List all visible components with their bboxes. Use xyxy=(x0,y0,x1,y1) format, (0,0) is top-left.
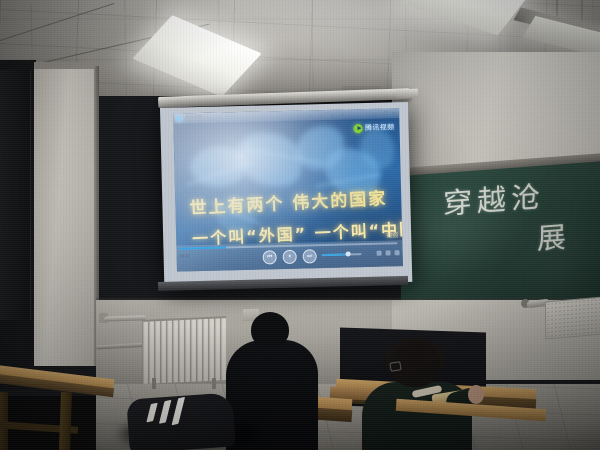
close-button[interactable]: ✕ xyxy=(392,110,395,115)
fullscreen-icon[interactable] xyxy=(395,250,400,255)
minimize-button[interactable]: — xyxy=(375,111,379,116)
player-app-icon xyxy=(176,115,182,121)
screen-roller-endcap xyxy=(396,89,418,99)
transport-controls[interactable]: ⏮ ⏸ ⏭ xyxy=(263,249,317,264)
video-player[interactable]: 腾讯视频 — ❐ ✕ 腾讯视频 世上有两个 伟大的国家 一个叫“外国” 一个叫“… xyxy=(173,108,403,271)
projection-screen: 腾讯视频 — ❐ ✕ 腾讯视频 世上有两个 伟大的国家 一个叫“外国” 一个叫“… xyxy=(160,102,412,288)
radiator-leg-1 xyxy=(152,378,156,389)
play-pause-button[interactable]: ⏸ xyxy=(283,250,297,264)
tray-clock[interactable] xyxy=(396,268,401,271)
blackboard: 穿越沧 展 xyxy=(401,161,600,318)
speaker-grille xyxy=(546,298,600,339)
subtitle-icon[interactable] xyxy=(386,250,391,255)
system-tray[interactable] xyxy=(380,268,401,271)
settings-icon[interactable] xyxy=(377,251,382,256)
volume-slider-fill xyxy=(321,253,346,256)
seek-bar-fill xyxy=(178,246,226,249)
tencent-video-watermark: 腾讯视频 xyxy=(354,122,395,133)
left-doorway xyxy=(0,70,31,320)
elapsed-time-label: 00:42 xyxy=(180,253,190,258)
next-button[interactable]: ⏭ xyxy=(303,249,317,263)
pendant-rod-2 xyxy=(581,0,583,22)
player-toolbar-icons[interactable] xyxy=(293,112,345,118)
tray-icon[interactable] xyxy=(380,269,385,272)
maximize-button[interactable]: ❐ xyxy=(384,110,388,115)
desk-left-leg xyxy=(59,392,72,450)
blackboard-chalk-line-2: 展 xyxy=(537,214,571,258)
volume-slider-knob[interactable] xyxy=(345,251,350,256)
eyeglasses xyxy=(389,361,401,372)
tray-icon[interactable] xyxy=(388,268,393,271)
radiator xyxy=(142,316,226,384)
wall-pillar xyxy=(34,66,98,366)
play-logo-icon xyxy=(354,124,363,133)
volume-slider[interactable] xyxy=(321,253,361,256)
player-right-icons[interactable] xyxy=(377,250,400,256)
classroom-photo: 穿越沧 展 xyxy=(0,0,600,450)
player-window-title: 腾讯视频 xyxy=(185,114,202,120)
radiator-fins xyxy=(142,318,226,384)
next-icon: ⏭ xyxy=(307,253,313,259)
map-landmass xyxy=(234,130,306,189)
wall-pillar-top xyxy=(34,62,100,69)
blackboard-chalk-line-1: 穿越沧 xyxy=(443,173,545,222)
video-caption-sub: 视频 xyxy=(386,230,398,239)
pause-icon: ⏸ xyxy=(288,254,291,260)
previous-button[interactable]: ⏮ xyxy=(263,250,277,264)
radiator-leg-2 xyxy=(212,378,216,389)
student-right-hand xyxy=(468,385,484,404)
student-front-row-head xyxy=(251,312,289,348)
tencent-video-label: 腾讯视频 xyxy=(365,122,395,133)
wall-speaker xyxy=(545,296,600,339)
previous-icon: ⏮ xyxy=(267,254,273,260)
